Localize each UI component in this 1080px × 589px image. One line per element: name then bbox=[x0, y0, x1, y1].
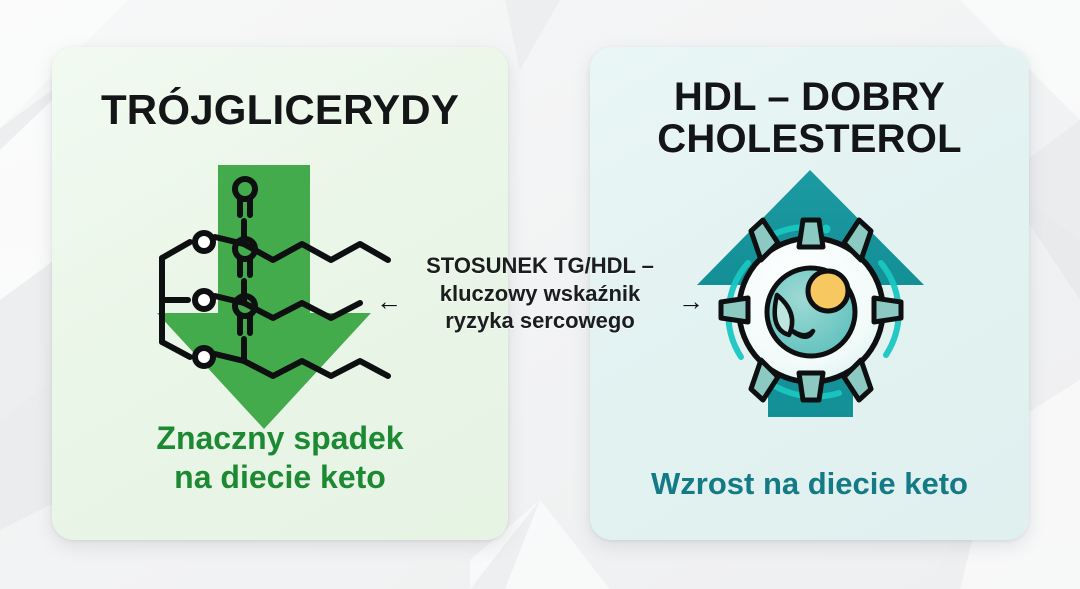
caption-triglycerides: Znaczny spadek na diecie keto bbox=[52, 419, 508, 496]
card-hdl: HDL – DOBRY CHOLESTEROL bbox=[590, 47, 1029, 540]
page-title-hdl: HDL – DOBRY CHOLESTEROL bbox=[590, 76, 1029, 161]
triglyceride-molecule-down-arrow-icon bbox=[152, 165, 412, 433]
down-arrow-shape bbox=[157, 165, 371, 429]
card-triglycerides: TRÓJGLICERYDY bbox=[52, 47, 508, 540]
title-line-1: HDL – DOBRY bbox=[674, 75, 945, 119]
page-title-triglycerides: TRÓJGLICERYDY bbox=[52, 88, 508, 133]
caption-line-1: Znaczny spadek bbox=[156, 420, 403, 456]
infographic-canvas: TRÓJGLICERYDY bbox=[0, 0, 1080, 589]
caption-line-2: na diecie keto bbox=[174, 459, 386, 495]
title-line-2: CHOLESTEROL bbox=[657, 117, 961, 161]
caption-hdl: Wzrost na diecie keto bbox=[590, 465, 1029, 502]
hdl-lipoprotein-up-arrow-icon bbox=[693, 167, 928, 425]
